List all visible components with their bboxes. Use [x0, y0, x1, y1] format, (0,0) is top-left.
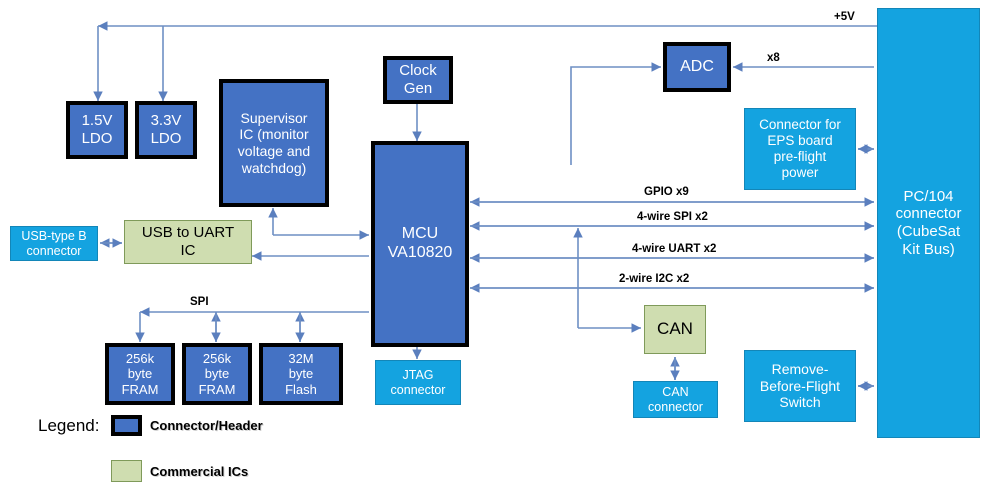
- block-fram-256k-2[interactable]: 256k byte FRAM: [182, 343, 252, 405]
- block-jtag-connector[interactable]: JTAG connector: [375, 360, 461, 405]
- block-ldo-3v3[interactable]: 3.3V LDO: [135, 101, 197, 159]
- label-spi-bus: 4-wire SPI x2: [637, 211, 708, 223]
- block-pc104-connector[interactable]: PC/104 connector (CubeSat Kit Bus): [877, 8, 980, 438]
- block-can-connector[interactable]: CAN connector: [633, 381, 718, 418]
- label-uart-bus: 4-wire UART x2: [632, 243, 716, 255]
- label-power-5v: +5V: [834, 11, 855, 23]
- block-flash-32m[interactable]: 32M byte Flash: [259, 343, 343, 405]
- commercial-ic-swatch: [111, 460, 142, 482]
- legend-label-connector-header: Connector/Header: [150, 418, 263, 433]
- block-usb-to-uart-ic[interactable]: USB to UART IC: [124, 220, 252, 264]
- label-i2c-bus: 2-wire I2C x2: [619, 273, 689, 285]
- legend-title: Legend:: [38, 416, 99, 436]
- block-supervisor-ic[interactable]: Supervisor IC (monitor voltage and watch…: [219, 79, 329, 207]
- block-adc[interactable]: ADC: [663, 42, 731, 92]
- block-eps-connector[interactable]: Connector for EPS board pre-flight power: [744, 108, 856, 190]
- block-can[interactable]: CAN: [644, 305, 706, 354]
- block-diagram-canvas: 1.5V LDO 3.3V LDO Supervisor IC (monitor…: [0, 0, 994, 495]
- block-usb-type-b-connector[interactable]: USB-type B connector: [10, 226, 98, 261]
- block-remove-before-flight-switch[interactable]: Remove- Before-Flight Switch: [744, 350, 856, 422]
- connector-header-swatch: [111, 415, 142, 436]
- block-ldo-1v5[interactable]: 1.5V LDO: [66, 101, 128, 159]
- block-mcu[interactable]: MCU VA10820: [371, 141, 469, 347]
- label-spi-memory-bus: SPI: [190, 296, 209, 308]
- block-clock-gen[interactable]: Clock Gen: [383, 56, 453, 104]
- legend-label-commercial-ics: Commercial ICs: [150, 464, 248, 479]
- label-gpio-bus: GPIO x9: [644, 186, 689, 198]
- block-fram-256k-1[interactable]: 256k byte FRAM: [105, 343, 175, 405]
- label-adc-x8: x8: [767, 52, 780, 64]
